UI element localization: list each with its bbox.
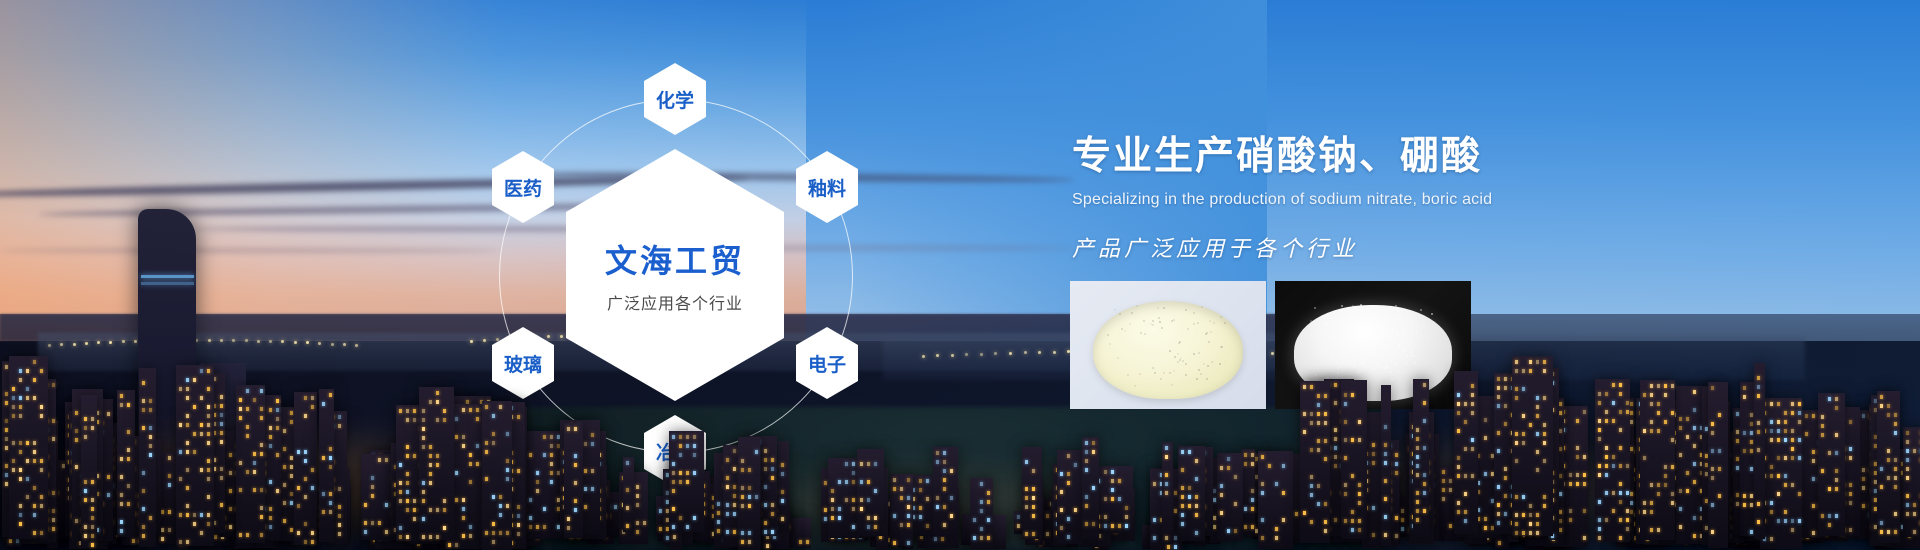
powder-speck bbox=[1187, 328, 1189, 330]
building bbox=[1877, 391, 1900, 543]
powder-speck bbox=[1154, 372, 1156, 374]
powder-speck bbox=[1339, 366, 1341, 368]
powder-speck bbox=[1203, 363, 1205, 365]
building bbox=[419, 387, 454, 540]
powder-speck bbox=[1160, 378, 1162, 380]
powder-speck bbox=[1200, 373, 1202, 375]
building bbox=[176, 365, 214, 546]
building bbox=[1057, 450, 1084, 543]
powder-speck bbox=[1423, 325, 1425, 327]
powder-speck bbox=[1350, 363, 1352, 365]
powder-speck bbox=[1413, 355, 1415, 357]
powder-speck bbox=[1397, 333, 1399, 335]
building bbox=[1413, 379, 1429, 538]
building bbox=[828, 458, 857, 538]
powder-speck bbox=[1427, 338, 1429, 340]
hex-node-label: 电子 bbox=[808, 350, 846, 377]
building bbox=[1903, 427, 1920, 537]
building bbox=[1300, 381, 1330, 543]
hex-node-label: 玻璃 bbox=[504, 350, 542, 377]
powder-speck bbox=[1406, 355, 1408, 357]
powder-speck bbox=[1315, 374, 1317, 376]
product-photo-group bbox=[1070, 281, 1471, 409]
building bbox=[1760, 398, 1802, 549]
building bbox=[9, 356, 48, 539]
hex-node-label: 化学 bbox=[656, 86, 694, 113]
building bbox=[890, 474, 913, 546]
powder-speck bbox=[1353, 364, 1355, 366]
building bbox=[970, 478, 993, 549]
powder-speck bbox=[1171, 384, 1173, 386]
powder-speck bbox=[1354, 308, 1356, 310]
building bbox=[857, 449, 884, 536]
powder-speck bbox=[1431, 313, 1433, 315]
powder-speck bbox=[1207, 365, 1209, 367]
company-tagline: 广泛应用各个行业 bbox=[607, 290, 743, 314]
building bbox=[933, 447, 958, 536]
powder-speck bbox=[1362, 356, 1364, 358]
building bbox=[1162, 442, 1173, 544]
powder-speck bbox=[1221, 346, 1223, 348]
powder-speck bbox=[1391, 378, 1393, 380]
powder-speck bbox=[1140, 332, 1142, 334]
powder-speck bbox=[1416, 332, 1418, 334]
powder-speck bbox=[1129, 323, 1131, 325]
product-photo-sodium-nitrate[interactable] bbox=[1070, 281, 1266, 409]
building bbox=[564, 423, 583, 538]
building bbox=[1082, 437, 1099, 540]
powder-speck bbox=[1197, 322, 1199, 324]
powder-speck bbox=[1163, 372, 1165, 374]
building bbox=[81, 395, 97, 548]
powder-speck bbox=[1364, 333, 1366, 335]
marketing-copy: 专业生产硝酸钠、硼酸 Specializing in the productio… bbox=[1072, 125, 1852, 263]
company-name: 文海工贸 bbox=[605, 236, 745, 282]
building bbox=[1512, 356, 1553, 537]
building bbox=[778, 441, 789, 532]
building bbox=[1640, 380, 1675, 541]
building bbox=[1708, 382, 1727, 549]
powder-speck bbox=[1390, 371, 1392, 373]
powder-speck bbox=[1316, 351, 1318, 353]
powder-speck bbox=[1127, 374, 1129, 376]
powder-speck bbox=[1420, 309, 1422, 311]
tagline: 产品广泛应用于各个行业 bbox=[1072, 231, 1852, 263]
building bbox=[738, 437, 760, 550]
powder-speck bbox=[1417, 326, 1419, 328]
powder-speck bbox=[1368, 321, 1370, 323]
powder-speck bbox=[1171, 320, 1173, 322]
building bbox=[1754, 363, 1765, 538]
building bbox=[992, 515, 1005, 548]
building bbox=[1178, 446, 1205, 541]
sub-headline: Specializing in the production of sodium… bbox=[1072, 191, 1852, 209]
bridge-lights bbox=[48, 344, 355, 346]
building bbox=[294, 392, 317, 545]
powder-speck bbox=[1382, 358, 1384, 360]
powder-speck bbox=[1349, 373, 1351, 375]
powder-speck bbox=[1383, 345, 1385, 347]
building bbox=[1217, 453, 1243, 540]
powder-speck bbox=[1185, 374, 1187, 376]
powder-speck bbox=[1136, 305, 1138, 307]
powder-speck bbox=[1405, 310, 1407, 312]
powder-speck bbox=[1390, 336, 1392, 338]
powder-speck bbox=[1180, 357, 1182, 359]
powder-speck bbox=[1372, 353, 1374, 355]
powder-speck bbox=[1179, 359, 1181, 361]
background-cityscape bbox=[0, 0, 1920, 550]
powder-speck bbox=[1358, 341, 1360, 343]
building bbox=[623, 457, 634, 533]
powder-speck bbox=[1161, 327, 1163, 329]
building bbox=[1258, 451, 1293, 549]
powder-speck bbox=[1114, 309, 1116, 311]
building bbox=[1341, 380, 1366, 538]
promo-banner: 化学 釉料 电子 冶金 玻璃 医药 文海工贸 广泛应用各个行业 专业生产硝酸钠、… bbox=[0, 0, 1920, 550]
powder-speck bbox=[1357, 371, 1359, 373]
hex-node-label: 釉料 bbox=[808, 174, 846, 201]
powder-speck bbox=[1314, 307, 1316, 309]
powder-speck bbox=[1405, 359, 1407, 361]
building bbox=[1595, 379, 1631, 542]
powder-speck bbox=[1349, 345, 1351, 347]
powder-speck bbox=[1374, 351, 1376, 353]
powder-speck bbox=[1107, 334, 1109, 336]
building bbox=[1818, 393, 1845, 536]
powder-speck bbox=[1320, 351, 1322, 353]
powder-speck bbox=[1193, 353, 1195, 355]
powder-speck bbox=[1398, 344, 1400, 346]
powder-speck bbox=[1386, 323, 1388, 325]
powder-speck bbox=[1415, 319, 1417, 321]
powder-speck bbox=[1352, 305, 1354, 307]
hex-node-label: 医药 bbox=[504, 174, 542, 201]
building bbox=[1381, 385, 1391, 546]
building bbox=[1022, 447, 1042, 539]
powder-speck bbox=[1119, 313, 1121, 315]
powder-speck bbox=[1416, 357, 1418, 359]
building bbox=[669, 431, 704, 533]
building bbox=[1094, 466, 1133, 533]
building bbox=[139, 368, 156, 547]
building bbox=[117, 390, 135, 537]
powder-speck bbox=[1169, 372, 1171, 374]
headline: 专业生产硝酸钠、硼酸 bbox=[1072, 125, 1852, 181]
building bbox=[236, 385, 265, 543]
building bbox=[319, 389, 334, 542]
powder-speck bbox=[1152, 367, 1154, 369]
building bbox=[482, 401, 512, 550]
powder-speck bbox=[1402, 333, 1404, 335]
powder-speck bbox=[1332, 354, 1334, 356]
powder-speck bbox=[1109, 343, 1111, 345]
powder-speck bbox=[1341, 358, 1343, 360]
building bbox=[1454, 371, 1478, 534]
powder-speck bbox=[1158, 317, 1160, 319]
powder-speck bbox=[1398, 371, 1400, 373]
